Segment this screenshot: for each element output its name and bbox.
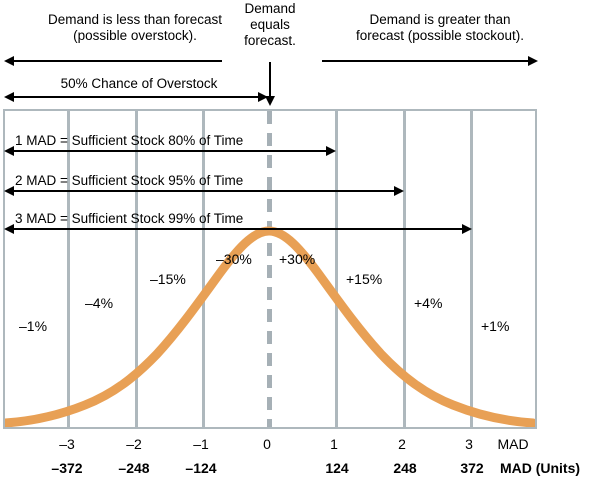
arrow-stockout-range-line <box>322 60 530 62</box>
xtick-units-neg124: –124 <box>185 460 216 476</box>
arrow-stockout-range-head <box>528 56 538 66</box>
xtick-mad-pos3: 3 <box>465 436 473 452</box>
label-overstock-chance: 50% Chance of Overstock <box>14 76 264 92</box>
axis-label-mad-units: MAD (Units) <box>500 460 580 476</box>
arrow-overstock-chance-head-left <box>4 92 14 102</box>
xtick-mad-neg3: –3 <box>59 436 75 452</box>
xtick-units-neg372: –372 <box>51 460 82 476</box>
mad-bracket-arrow-1-line <box>14 150 328 152</box>
band-label-neg4: –4% <box>85 295 113 311</box>
xtick-mad-pos2: 2 <box>398 436 406 452</box>
band-label-neg15: –15% <box>150 271 186 287</box>
mad-bracket-arrow-1-head-right <box>326 146 336 156</box>
xtick-units-pos124: 124 <box>325 460 348 476</box>
distribution-plot-area: 1 MAD = Sufficient Stock 80% of Time 2 M… <box>3 109 537 429</box>
band-label-pos30: +30% <box>279 251 315 267</box>
forecast-mad-distribution-figure: Demand is less than forecast (possible o… <box>0 0 603 485</box>
xtick-mad-0: 0 <box>263 436 271 452</box>
band-label-pos15: +15% <box>346 271 382 287</box>
mad-bracket-label-2: 2 MAD = Sufficient Stock 95% of Time <box>15 173 243 188</box>
bell-curve <box>5 111 535 427</box>
mad-bracket-arrow-2-head-right <box>394 186 404 196</box>
xtick-units-neg248: –248 <box>118 460 149 476</box>
arrow-overstock-chance-line <box>14 96 260 98</box>
xtick-mad-neg2: –2 <box>126 436 142 452</box>
axis-label-mad: MAD <box>497 436 528 452</box>
band-label-pos4: +4% <box>414 295 442 311</box>
xtick-mad-neg1: –1 <box>193 436 209 452</box>
caption-demand-equals-forecast: Demand equals forecast. <box>222 1 318 49</box>
band-label-pos1: +1% <box>481 318 509 334</box>
mad-bracket-arrow-2-head-left <box>4 186 14 196</box>
band-label-neg30: –30% <box>216 251 252 267</box>
xtick-mad-pos1: 1 <box>330 436 338 452</box>
arrow-overstock-chance-head-right <box>258 92 268 102</box>
xtick-units-pos372: 372 <box>460 460 483 476</box>
mad-bracket-arrow-1-head-left <box>4 146 14 156</box>
mad-bracket-label-1: 1 MAD = Sufficient Stock 80% of Time <box>15 133 243 148</box>
arrow-demand-equals-forecast-line <box>269 62 271 98</box>
mad-bracket-arrow-3-line <box>14 228 464 230</box>
arrow-overstock-range-head <box>4 56 14 66</box>
band-label-neg1: –1% <box>19 318 47 334</box>
mad-bracket-arrow-3-head-left <box>4 224 14 234</box>
arrow-overstock-range-line <box>14 60 222 62</box>
mad-bracket-label-3: 3 MAD = Sufficient Stock 99% of Time <box>15 211 243 226</box>
mad-bracket-arrow-3-head-right <box>462 224 472 234</box>
caption-demand-greater-than-forecast: Demand is greater than forecast (possibl… <box>318 12 562 44</box>
xtick-units-pos248: 248 <box>393 460 416 476</box>
mad-bracket-arrow-2-line <box>14 190 396 192</box>
